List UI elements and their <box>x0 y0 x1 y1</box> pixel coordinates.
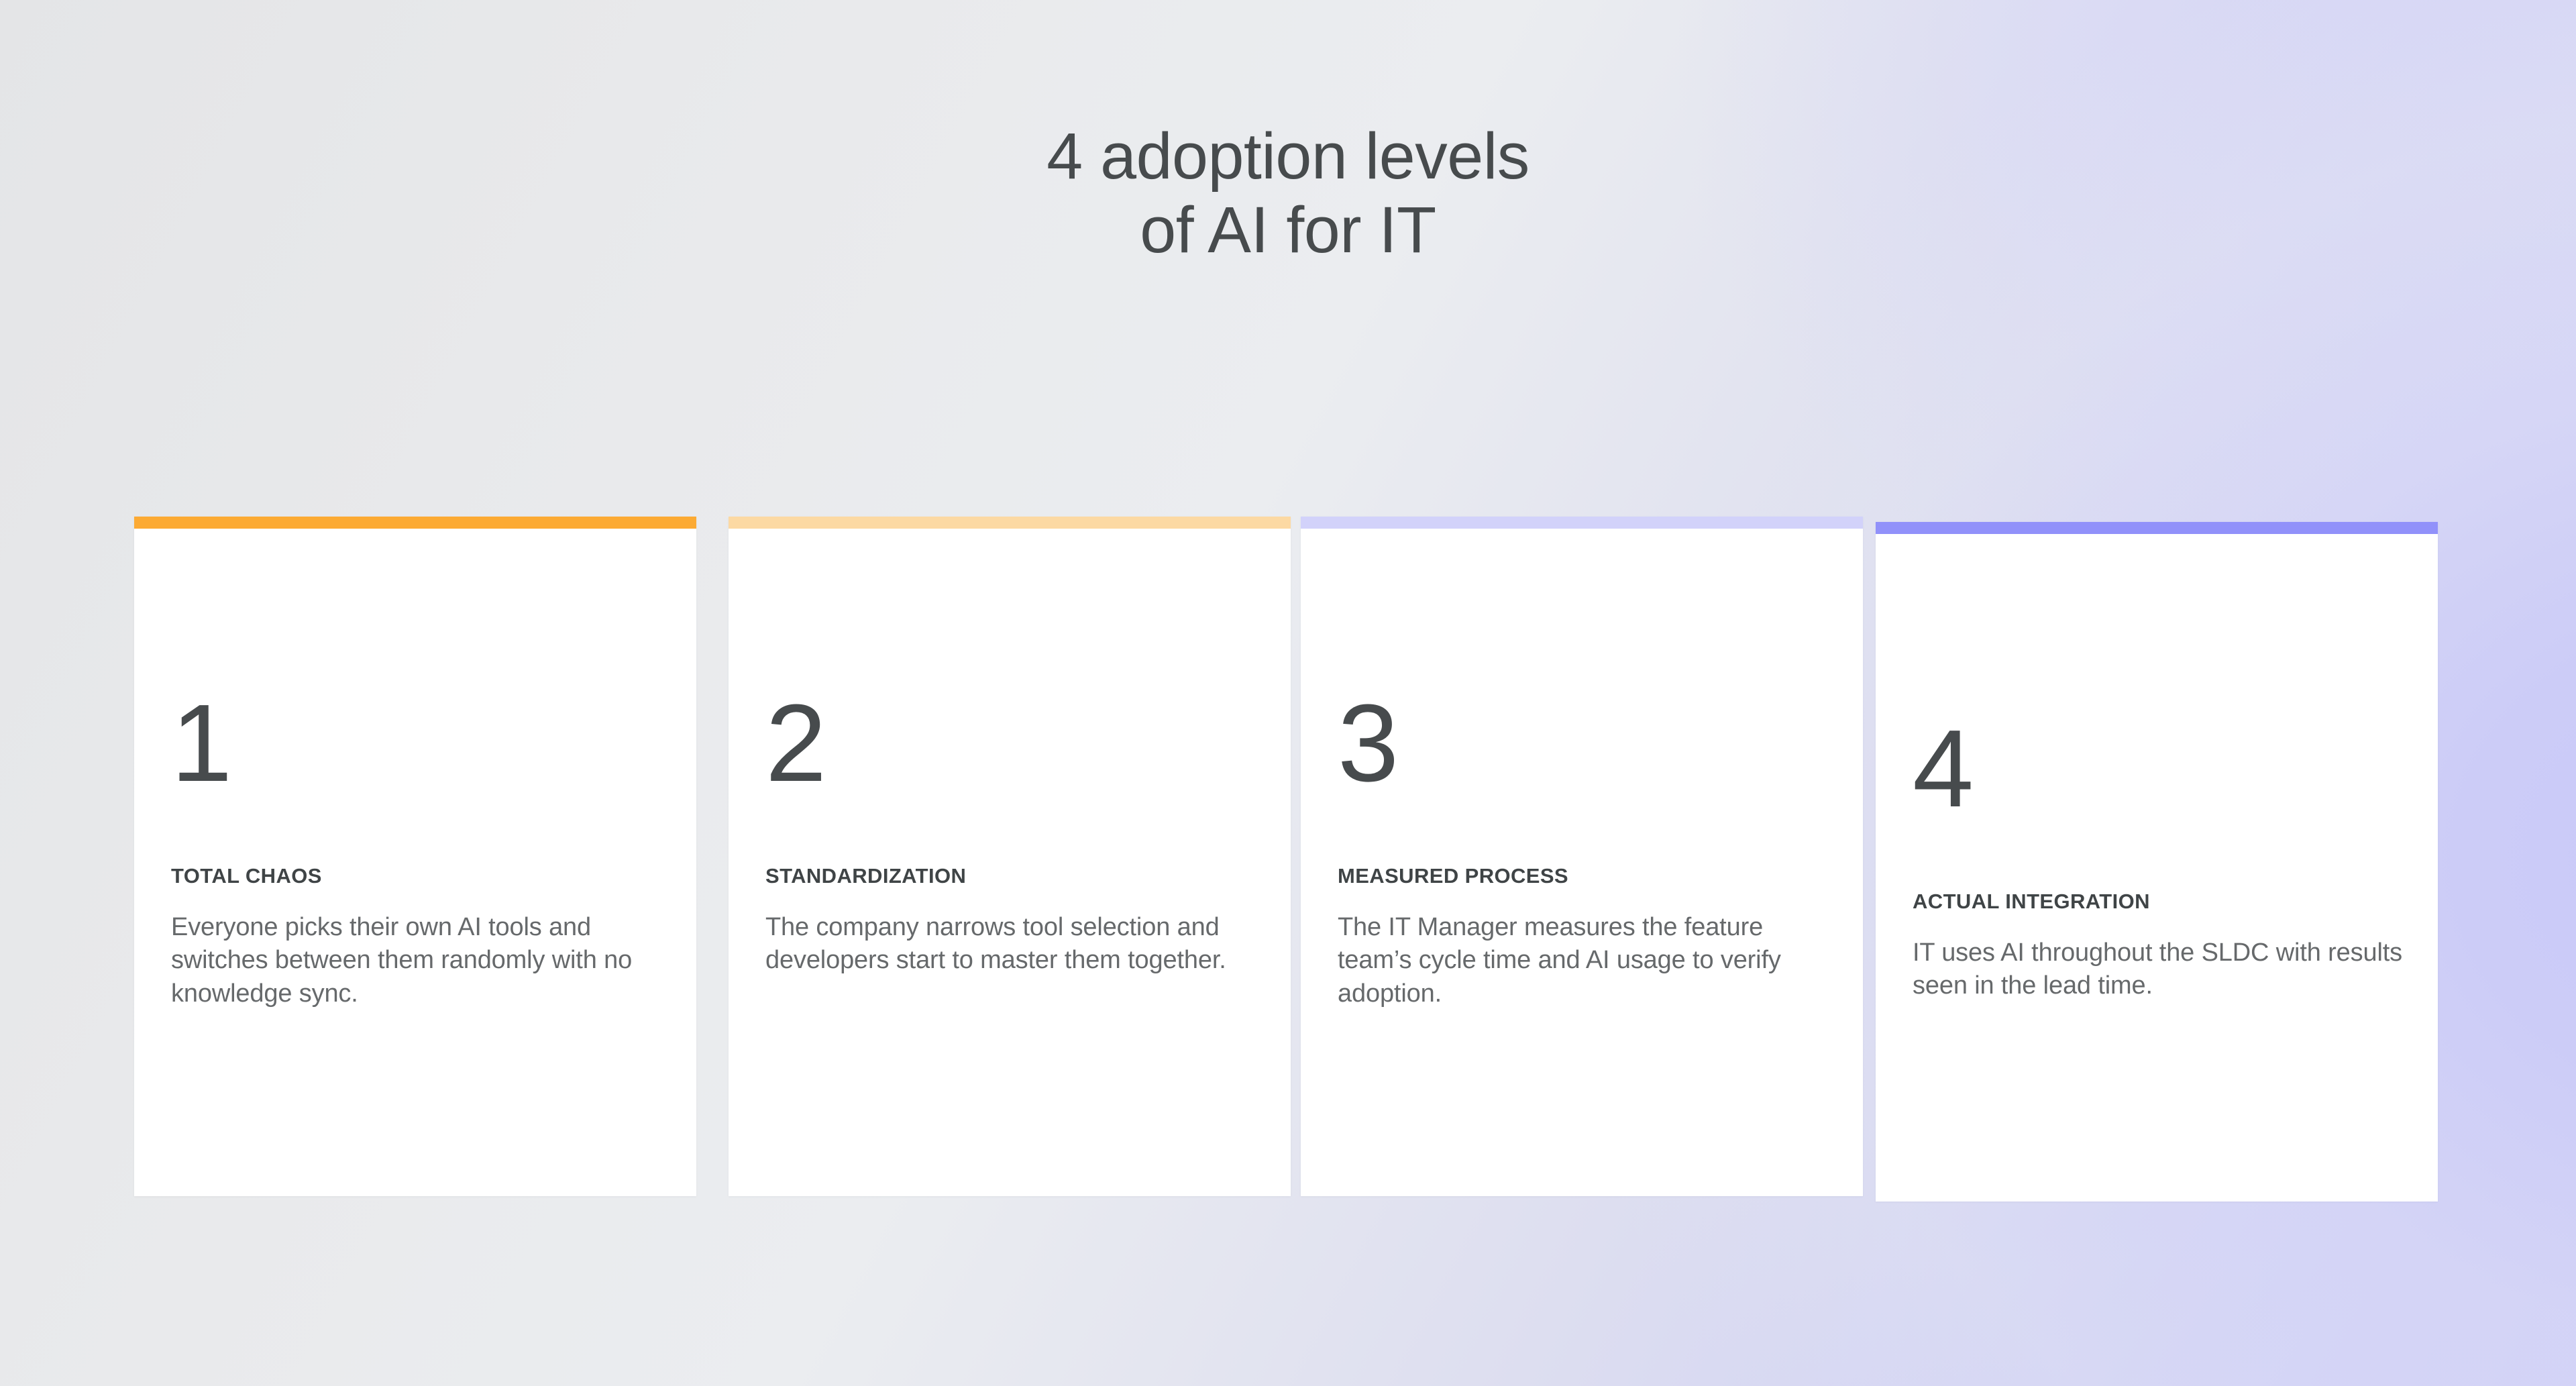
adoption-levels-card-row: 1 TOTAL CHAOS Everyone picks their own A… <box>134 517 2447 1228</box>
level-card-4-body: 4 ACTUAL INTEGRATION IT uses AI througho… <box>1876 534 2438 1202</box>
level-number-4: 4 <box>1913 714 1972 824</box>
level-description-2: The company narrows tool selection and d… <box>765 911 1265 977</box>
level-description-3: The IT Manager measures the feature team… <box>1338 911 1837 1010</box>
slide-canvas: 4 adoption levels of AI for IT 1 TOTAL C… <box>0 0 2576 1386</box>
level-card-1[interactable]: 1 TOTAL CHAOS Everyone picks their own A… <box>134 517 696 1196</box>
level-card-3[interactable]: 3 MEASURED PROCESS The IT Manager measur… <box>1301 517 1863 1196</box>
level-card-2[interactable]: 2 STANDARDIZATION The company narrows to… <box>729 517 1291 1196</box>
level-card-1-body: 1 TOTAL CHAOS Everyone picks their own A… <box>134 529 696 1196</box>
level-card-2-body: 2 STANDARDIZATION The company narrows to… <box>729 529 1291 1196</box>
level-card-4[interactable]: 4 ACTUAL INTEGRATION IT uses AI througho… <box>1876 522 2438 1202</box>
level-label-4: ACTUAL INTEGRATION <box>1913 890 2150 914</box>
accent-bar-level-4 <box>1876 522 2438 534</box>
level-card-3-body: 3 MEASURED PROCESS The IT Manager measur… <box>1301 529 1863 1196</box>
accent-bar-level-2 <box>729 517 1291 529</box>
level-label-2: STANDARDIZATION <box>765 864 966 888</box>
level-number-1: 1 <box>171 688 231 798</box>
accent-bar-level-1 <box>134 517 696 529</box>
level-label-3: MEASURED PROCESS <box>1338 864 1568 888</box>
level-description-4: IT uses AI throughout the SLDC with resu… <box>1913 937 2412 1003</box>
accent-bar-level-3 <box>1301 517 1863 529</box>
page-title: 4 adoption levels of AI for IT <box>0 119 2576 266</box>
level-description-1: Everyone picks their own AI tools and sw… <box>171 911 671 1010</box>
level-number-3: 3 <box>1338 688 1397 798</box>
level-label-1: TOTAL CHAOS <box>171 864 322 888</box>
level-number-2: 2 <box>765 688 825 798</box>
